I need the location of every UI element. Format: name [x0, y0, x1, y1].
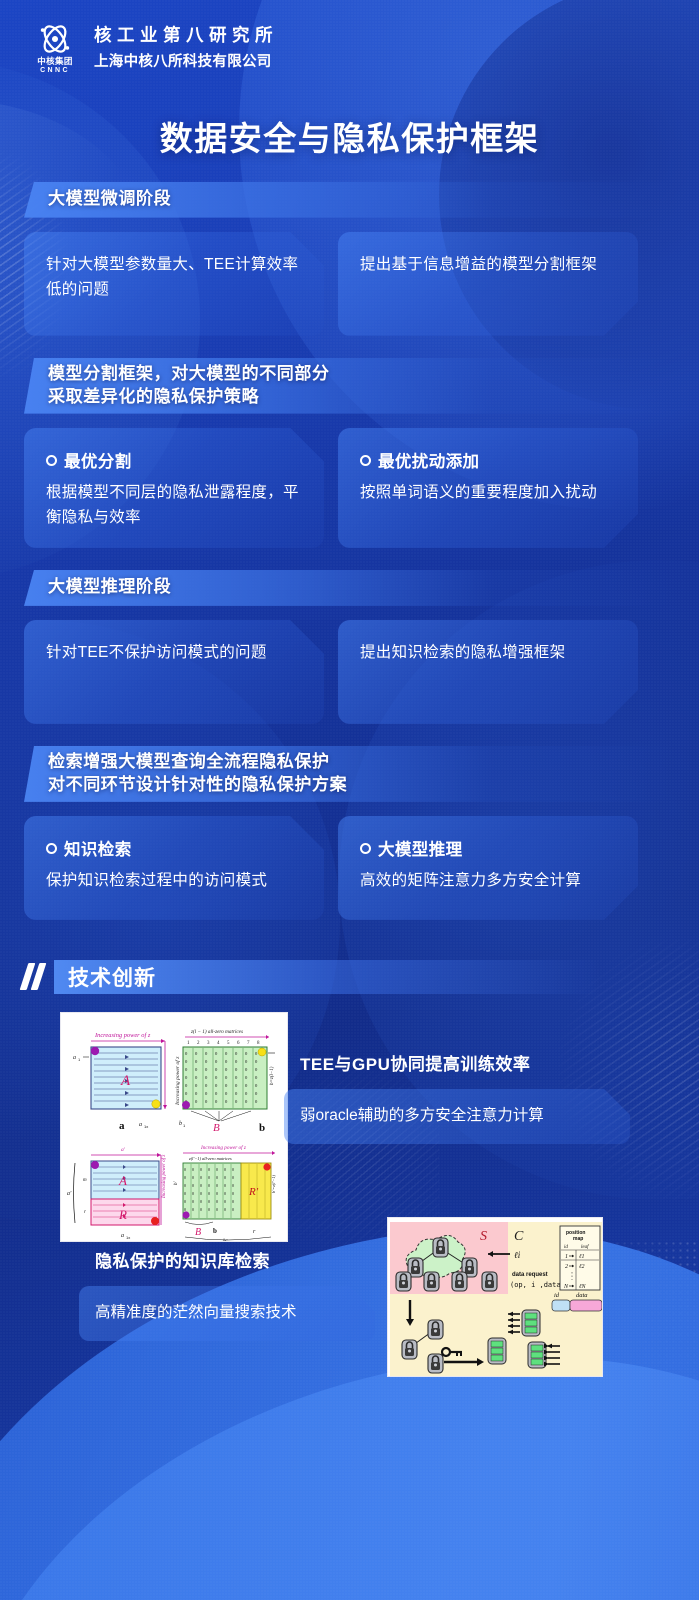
svg-text:R: R	[118, 1207, 127, 1222]
card-title-label: 最优分割	[64, 453, 132, 471]
svg-text:0: 0	[232, 1191, 234, 1196]
svg-text:b: b	[179, 1121, 182, 1127]
org-line-2: 上海中核八所科技有限公司	[94, 50, 278, 71]
card-solution: 提出基于信息增益的模型分割框架	[338, 232, 638, 336]
brand-group-en: CNNC	[40, 67, 70, 74]
svg-text:0: 0	[184, 1175, 186, 1180]
svg-text:0: 0	[224, 1199, 226, 1204]
card-text: 提出基于信息增益的模型分割框架	[360, 252, 616, 277]
card-title: 知识检索	[46, 836, 302, 860]
card-row: 知识检索 保护知识检索过程中的访问模式 大模型推理 高效的矩阵注意力多方安全计算	[24, 816, 675, 920]
bullet-ring-icon	[46, 843, 57, 854]
svg-text:1x: 1x	[144, 1124, 148, 1129]
svg-text:0: 0	[208, 1183, 210, 1188]
svg-text:ℓi: ℓi	[514, 1250, 521, 1260]
svg-text:b: b	[213, 1227, 217, 1235]
svg-text:0: 0	[216, 1183, 218, 1188]
svg-text:0: 0	[208, 1207, 210, 1212]
section-heading-label: 检索增强大模型查询全流程隐私保护 对不同环节设计针对性的隐私保护方案	[48, 751, 347, 797]
svg-text:1x: 1x	[126, 1235, 130, 1240]
section-heading-label: 大模型微调阶段	[48, 188, 171, 211]
card-text: 按照单词语义的重要程度加入扰动	[360, 480, 616, 505]
innovation-item-1: TEE与GPU协同提高训练效率 弱oracle辅助的多方安全注意力计算	[300, 1050, 630, 1144]
svg-text:0: 0	[232, 1199, 234, 1204]
double-slash-icon	[24, 963, 42, 990]
svg-text:0: 0	[224, 1183, 226, 1188]
svg-text:0: 0	[200, 1191, 202, 1196]
organization-names: 核工业第八研究所 上海中核八所科技有限公司	[94, 22, 278, 73]
svg-text:data request: data request	[512, 1272, 548, 1278]
card-title: 大模型推理	[360, 836, 616, 860]
innovation-band: 技术创新	[54, 960, 675, 994]
svg-text:a: a	[121, 1233, 124, 1239]
svg-text:0: 0	[184, 1191, 186, 1196]
svg-text:Increasing power of z: Increasing power of z	[162, 1155, 167, 1199]
svg-text:a: a	[119, 1120, 125, 1132]
svg-text:r: r	[84, 1210, 86, 1215]
svg-text:0: 0	[184, 1199, 186, 1204]
org-line-1: 核工业第八研究所	[94, 22, 278, 47]
svg-text:0: 0	[216, 1199, 218, 1204]
section-heading-label: 大模型推理阶段	[48, 576, 171, 599]
bullet-ring-icon	[360, 843, 371, 854]
svg-text:0: 0	[192, 1199, 194, 1204]
svg-text:0: 0	[224, 1207, 226, 1212]
section-heading: 检索增强大模型查询全流程隐私保护 对不同环节设计针对性的隐私保护方案	[24, 746, 675, 802]
svg-text:Increasing power of z: Increasing power of z	[174, 1056, 181, 1106]
svg-text:(op, i ,data): (op, i ,data)	[510, 1281, 565, 1289]
card-text: 保护知识检索过程中的访问模式	[46, 868, 302, 893]
bullet-ring-icon	[360, 455, 371, 466]
svg-text:ℓ2: ℓ2	[579, 1264, 585, 1270]
svg-text:0: 0	[192, 1175, 194, 1180]
svg-text:z(l'−1) all-zero matrices: z(l'−1) all-zero matrices	[188, 1156, 232, 1161]
svg-text:A: A	[118, 1173, 127, 1188]
innovation-item-1-title: TEE与GPU协同提高训练效率	[300, 1050, 630, 1075]
brand-group-cn: 中核集团	[37, 56, 73, 67]
svg-text:ℓN: ℓN	[579, 1284, 586, 1290]
card-title: 最优分割	[46, 448, 302, 472]
svg-text:id: id	[554, 1292, 560, 1299]
svg-text:0: 0	[200, 1207, 202, 1212]
section-model-inference: 大模型推理阶段 针对TEE不保护访问模式的问题 提出知识检索的隐私增强框架	[0, 570, 699, 724]
card-text: 提出知识检索的隐私增强框架	[360, 640, 616, 665]
svg-text:m: m	[83, 1178, 87, 1183]
svg-text:0: 0	[192, 1183, 194, 1188]
card-title-label: 最优扰动添加	[378, 453, 479, 471]
page-title: 数据安全与隐私保护框架	[0, 112, 699, 160]
card-title-label: 大模型推理	[378, 841, 463, 859]
svg-text:b'=z(l'−1): b'=z(l'−1)	[271, 1174, 276, 1193]
svg-text:0: 0	[192, 1207, 194, 1212]
section-split-framework: 模型分割框架，对大模型的不同部分 采取差异化的隐私保护策略 最优分割 根据模型不…	[0, 358, 699, 548]
section-heading-label: 模型分割框架，对大模型的不同部分 采取差异化的隐私保护策略	[48, 363, 330, 409]
svg-text:S: S	[480, 1229, 487, 1244]
svg-text:ℓ1: ℓ1	[579, 1254, 585, 1260]
innovation-item-2-text-label: 高精准度的茫然向量搜索技术	[95, 1304, 297, 1321]
svg-text:R': R'	[248, 1186, 259, 1198]
innovation-item-1-text-label: 弱oracle辅助的多方安全注意力计算	[300, 1107, 544, 1124]
section-model-finetune: 大模型微调阶段 针对大模型参数量大、TEE计算效率低的问题 提出基于信息增益的模…	[0, 182, 699, 336]
svg-text:0: 0	[224, 1167, 226, 1172]
svg-text:0: 0	[208, 1175, 210, 1180]
svg-text:0: 0	[216, 1175, 218, 1180]
svg-text:id: id	[564, 1245, 568, 1250]
svg-text:b': b'	[223, 1239, 228, 1242]
poster-header: 中核集团 CNNC 核工业第八研究所 上海中核八所科技有限公司	[0, 0, 699, 74]
card-text: 针对大模型参数量大、TEE计算效率低的问题	[46, 252, 302, 302]
svg-text:C: C	[514, 1229, 524, 1244]
svg-text:Increasing power of z: Increasing power of z	[94, 1032, 151, 1039]
card-title-label: 知识检索	[64, 841, 132, 859]
svg-text:0: 0	[208, 1191, 210, 1196]
svg-text:1: 1	[565, 1254, 568, 1260]
svg-text:0: 0	[184, 1183, 186, 1188]
svg-text:0: 0	[208, 1199, 210, 1204]
card-row: 最优分割 根据模型不同层的隐私泄露程度，平衡隐私与效率 最优扰动添加 按照单词语…	[24, 428, 675, 548]
svg-text:0: 0	[224, 1191, 226, 1196]
svg-text:0: 0	[216, 1207, 218, 1212]
card-optimal-noise: 最优扰动添加 按照单词语义的重要程度加入扰动	[338, 428, 638, 548]
card-llm-inference: 大模型推理 高效的矩阵注意力多方安全计算	[338, 816, 638, 920]
svg-text:0: 0	[232, 1207, 234, 1212]
svg-text:0: 0	[200, 1167, 202, 1172]
innovation-item-2-title: 隐私保护的知识库检索	[95, 1247, 375, 1272]
innovation-content: Increasing power of z a 1 A a	[0, 1012, 699, 1412]
brand-logo: 中核集团 CNNC	[26, 22, 84, 74]
innovation-item-2: 隐私保护的知识库检索 高精准度的茫然向量搜索技术	[95, 1247, 375, 1341]
cnnc-atom-logo-icon	[33, 22, 77, 56]
svg-text:0: 0	[200, 1175, 202, 1180]
card-problem: 针对TEE不保护访问模式的问题	[24, 620, 324, 724]
card-problem: 针对大模型参数量大、TEE计算效率低的问题	[24, 232, 324, 336]
innovation-header: 技术创新	[0, 960, 699, 994]
bullet-ring-icon	[46, 455, 57, 466]
matrix-encoding-svg: Increasing power of z a 1 A a	[61, 1013, 288, 1242]
svg-text:leaf: leaf	[581, 1245, 589, 1250]
svg-text:0: 0	[232, 1167, 234, 1172]
svg-text:a: a	[73, 1055, 76, 1061]
svg-text:z(l − 1) all-zero matrices: z(l − 1) all-zero matrices	[190, 1028, 243, 1035]
card-solution: 提出知识检索的隐私增强框架	[338, 620, 638, 724]
innovation-item-2-text: 高精准度的茫然向量搜索技术	[79, 1286, 375, 1341]
oram-retrieval-svg: S C ℓi data request (op, i ,data) positi…	[388, 1218, 603, 1377]
card-text: 根据模型不同层的隐私泄露程度，平衡隐私与效率	[46, 480, 302, 530]
svg-text:data: data	[576, 1292, 588, 1299]
svg-text:0: 0	[216, 1191, 218, 1196]
svg-text:0: 0	[232, 1183, 234, 1188]
svg-text:b: b	[259, 1122, 265, 1134]
card-knowledge-retrieval: 知识检索 保护知识检索过程中的访问模式	[24, 816, 324, 920]
innovation-heading-label: 技术创新	[68, 962, 156, 992]
section-heading: 大模型推理阶段	[24, 570, 675, 606]
svg-text:2: 2	[565, 1264, 568, 1270]
svg-text:b=z(l−1): b=z(l−1)	[270, 1066, 275, 1085]
innovation-item-1-text: 弱oracle辅助的多方安全注意力计算	[284, 1089, 630, 1144]
svg-text:0: 0	[224, 1175, 226, 1180]
section-heading: 模型分割框架，对大模型的不同部分 采取差异化的隐私保护策略	[24, 358, 675, 414]
svg-text:A: A	[120, 1073, 131, 1089]
svg-text:0: 0	[192, 1191, 194, 1196]
card-optimal-split: 最优分割 根据模型不同层的隐私泄露程度，平衡隐私与效率	[24, 428, 324, 548]
svg-text:0: 0	[184, 1207, 186, 1212]
svg-text:0: 0	[184, 1167, 186, 1172]
svg-text:0: 0	[200, 1199, 202, 1204]
section-rag-privacy: 检索增强大模型查询全流程隐私保护 对不同环节设计针对性的隐私保护方案 知识检索 …	[0, 746, 699, 920]
figure-matrix-encoding: Increasing power of z a 1 A a	[60, 1012, 288, 1242]
svg-text:0: 0	[216, 1167, 218, 1172]
card-row: 针对大模型参数量大、TEE计算效率低的问题 提出基于信息增益的模型分割框架	[24, 232, 675, 336]
card-title: 最优扰动添加	[360, 448, 616, 472]
svg-text:0: 0	[200, 1183, 202, 1188]
svg-text:a': a'	[67, 1191, 72, 1197]
svg-text:Increasing power of z: Increasing power of z	[200, 1144, 246, 1151]
svg-text:map: map	[573, 1236, 583, 1242]
figure-oram-retrieval: S C ℓi data request (op, i ,data) positi…	[387, 1217, 603, 1377]
svg-text:B: B	[213, 1122, 220, 1134]
svg-text:B: B	[195, 1227, 201, 1238]
card-row: 针对TEE不保护访问模式的问题 提出知识检索的隐私增强框架	[24, 620, 675, 724]
card-text: 针对TEE不保护访问模式的问题	[46, 640, 302, 665]
svg-text:0: 0	[208, 1167, 210, 1172]
section-heading: 大模型微调阶段	[24, 182, 675, 218]
svg-text:0: 0	[232, 1175, 234, 1180]
card-text: 高效的矩阵注意力多方安全计算	[360, 868, 616, 893]
svg-text:0: 0	[192, 1167, 194, 1172]
svg-text:a: a	[139, 1122, 142, 1128]
